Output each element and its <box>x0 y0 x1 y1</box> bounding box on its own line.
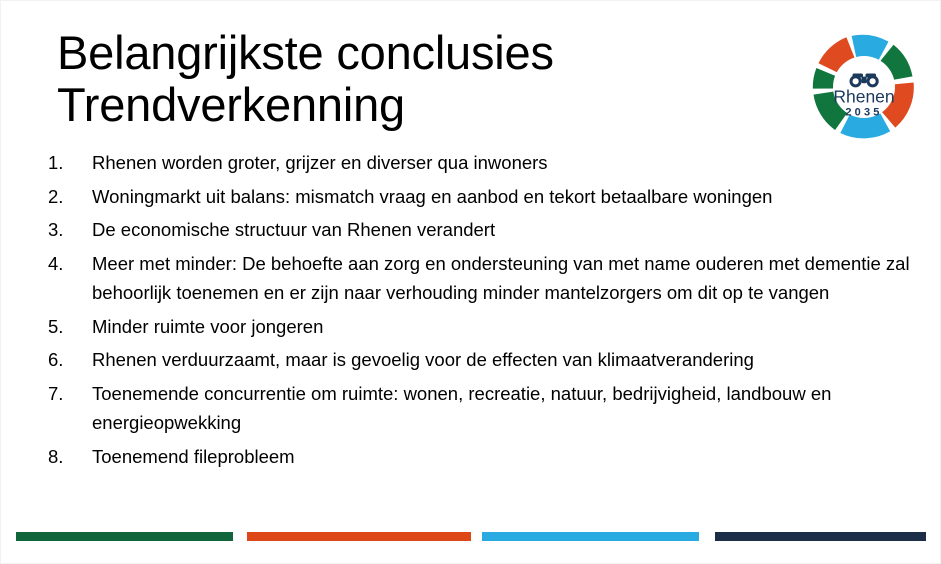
list-item-number: 7. <box>45 379 92 409</box>
list-item-number: 8. <box>45 442 92 472</box>
list-item: 1.Rhenen worden groter, grijzer en diver… <box>45 148 925 178</box>
list-item-number: 4. <box>45 249 92 279</box>
title-line-2: Trendverkenning <box>57 79 757 131</box>
list-item-number: 2. <box>45 182 92 212</box>
list-item-text: De economische structuur van Rhenen vera… <box>92 215 925 245</box>
navy-bar <box>715 532 926 541</box>
list-item-text: Woningmarkt uit balans: mismatch vraag e… <box>92 182 925 212</box>
list-item-text: Meer met minder: De behoefte aan zorg en… <box>92 249 925 308</box>
list-item-number: 6. <box>45 345 92 375</box>
list-item-text: Toenemende concurrentie om ruimte: wonen… <box>92 379 925 438</box>
logo-year: 2035 <box>845 107 882 119</box>
list-item: 8.Toenemend fileprobleem <box>45 442 925 472</box>
list-item-text: Rhenen worden groter, grijzer en diverse… <box>92 148 925 178</box>
list-item: 7.Toenemende concurrentie om ruimte: won… <box>45 379 925 438</box>
presentation-slide: Belangrijkste conclusies Trendverkenning <box>0 0 941 564</box>
orange-bar <box>247 532 471 541</box>
rhenen-2035-logo: Rhenen 2035 <box>807 30 921 144</box>
list-item-text: Rhenen verduurzaamt, maar is gevoelig vo… <box>92 345 925 375</box>
title-line-1: Belangrijkste conclusies <box>57 27 757 79</box>
list-item-number: 5. <box>45 312 92 342</box>
green-bar <box>16 532 233 541</box>
list-item: 4.Meer met minder: De behoefte aan zorg … <box>45 249 925 308</box>
footer-color-bars <box>1 532 941 541</box>
list-item: 3.De economische structuur van Rhenen ve… <box>45 215 925 245</box>
list-item-text: Toenemend fileprobleem <box>92 442 925 472</box>
list-item: 6.Rhenen verduurzaamt, maar is gevoelig … <box>45 345 925 375</box>
list-item: 2.Woningmarkt uit balans: mismatch vraag… <box>45 182 925 212</box>
logo-wordmark: Rhenen <box>833 87 894 107</box>
cyan-bar <box>482 532 699 541</box>
conclusions-list: 1.Rhenen worden groter, grijzer en diver… <box>45 148 925 475</box>
page-title: Belangrijkste conclusies Trendverkenning <box>57 27 757 131</box>
list-item: 5.Minder ruimte voor jongeren <box>45 312 925 342</box>
list-item-text: Minder ruimte voor jongeren <box>92 312 925 342</box>
list-item-number: 1. <box>45 148 92 178</box>
list-item-number: 3. <box>45 215 92 245</box>
